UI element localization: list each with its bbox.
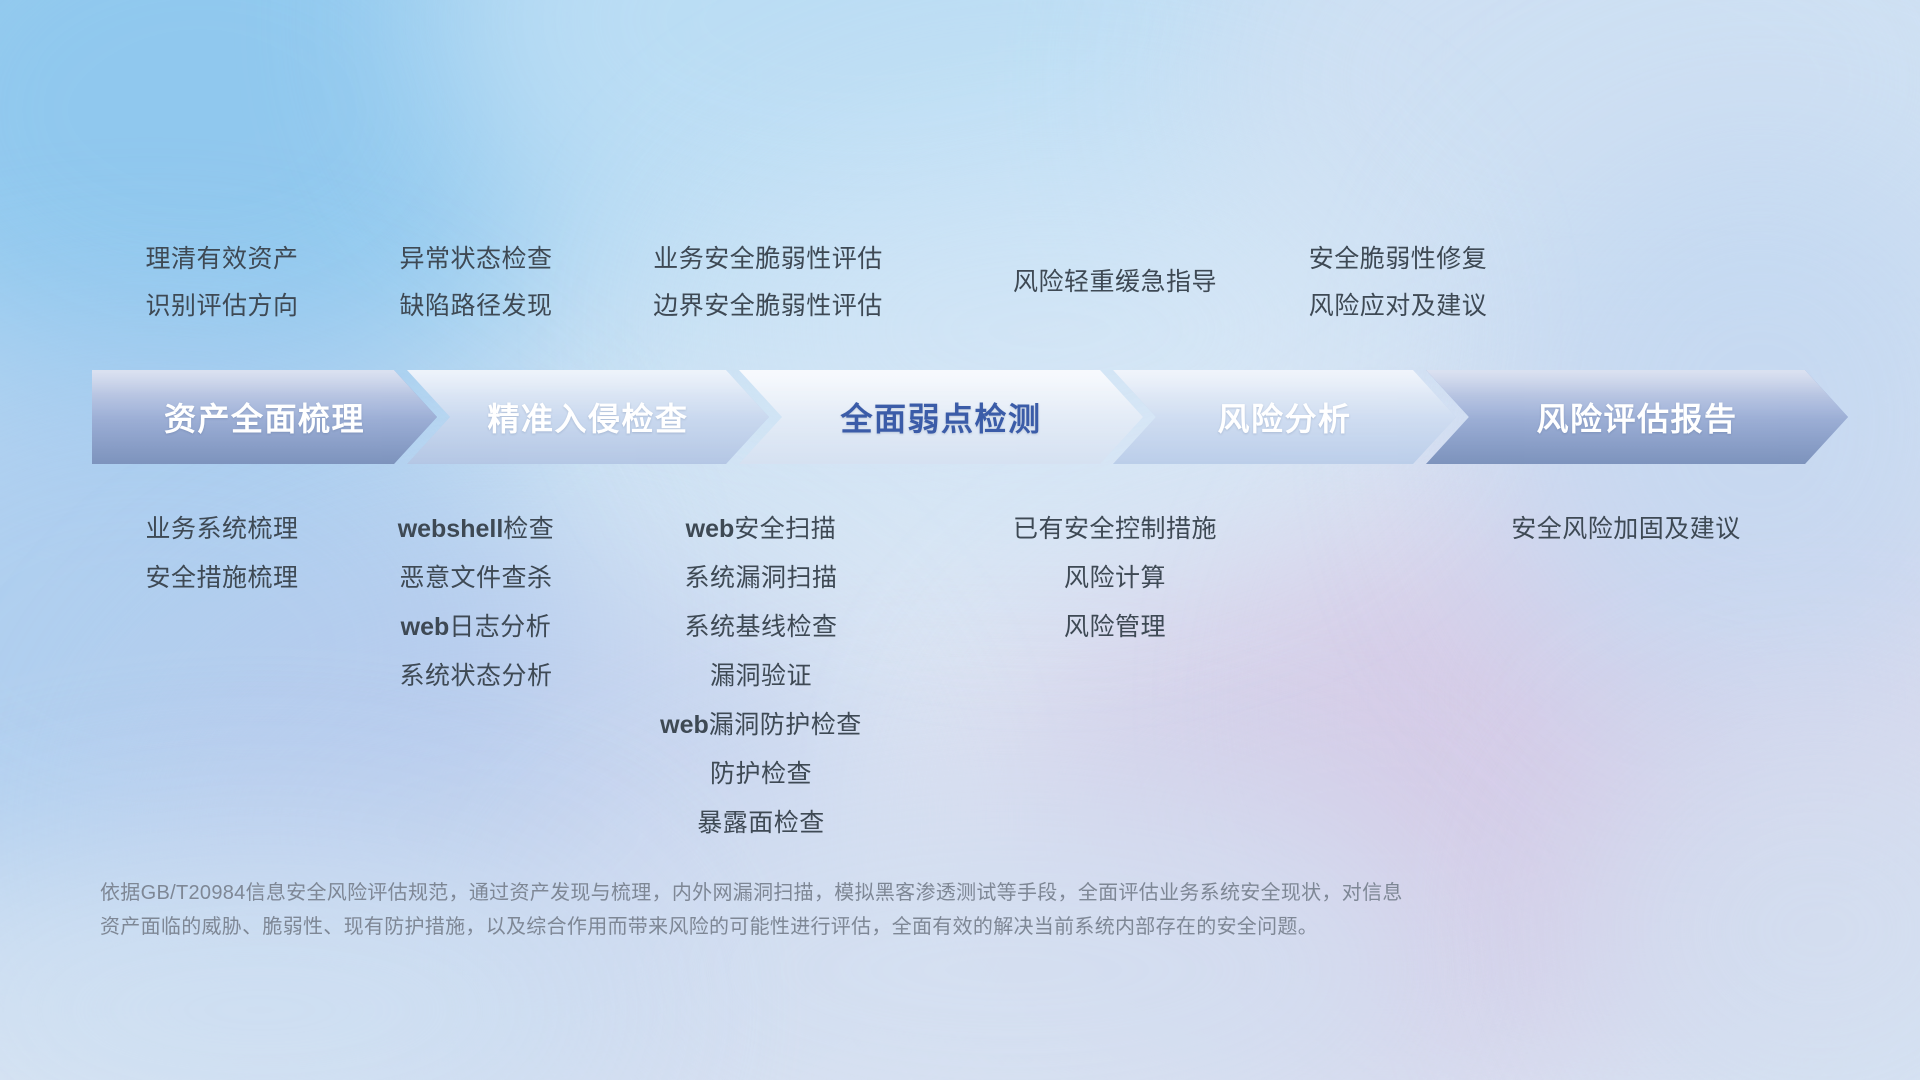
stage-activities-5: 安全风险加固及建议 [1406,505,1846,554]
output-text: 风险轻重缓急指导 [955,259,1275,306]
stage-activities-2: webshell检查 恶意文件查杀 web日志分析 系统状态分析 [316,505,636,701]
chevron-stage-3[interactable]: 全面弱点检测 [739,370,1143,464]
chevron-label: 全面弱点检测 [840,394,1041,440]
chevron-label: 风险分析 [1217,394,1351,440]
activity-text: 系统漏洞扫描 [601,554,921,603]
activity-text: 恶意文件查杀 [316,554,636,603]
activity-text: 防护检查 [601,750,921,799]
stage-activities-row: 业务系统梳理 安全措施梳理 webshell检查 恶意文件查杀 web日志分析 … [0,505,1920,845]
activity-text: 风险计算 [955,554,1275,603]
diagram-root: 理清有效资产 识别评估方向 异常状态检查 缺陷路径发现 业务安全脆弱性评估 边界… [0,0,1920,1080]
chevron-stage-4[interactable]: 风险分析 [1113,370,1456,464]
stage-outputs-5: 安全脆弱性修复 风险应对及建议 [1238,236,1558,330]
stage-activities-3: web安全扫描 系统漏洞扫描 系统基线检查 漏洞验证 web漏洞防护检查 防护检… [601,505,921,848]
output-text: 风险应对及建议 [1238,283,1558,330]
activity-text: webshell检查 [316,505,636,554]
chevron-stage-2[interactable]: 精准入侵检查 [407,370,769,464]
activity-text: 暴露面检查 [601,799,921,848]
activity-text: 系统状态分析 [316,652,636,701]
chevron-label: 资产全面梳理 [164,394,365,440]
activity-text: 漏洞验证 [601,652,921,701]
activity-text: 已有安全控制措施 [955,505,1275,554]
chevron-label: 精准入侵检查 [487,394,688,440]
activity-text: 安全风险加固及建议 [1406,505,1846,554]
stage-outputs-3: 业务安全脆弱性评估 边界安全脆弱性评估 [608,236,928,330]
activity-text: 风险管理 [955,603,1275,652]
output-text: 异常状态检查 [316,236,636,283]
activity-text: web日志分析 [316,603,636,652]
activity-text: web漏洞防护检查 [601,701,921,750]
process-chevron-banner: 资产全面梳理 精准入侵检查 全面弱点检测 风险分析 风险评估报告 [92,370,1848,464]
chevron-stage-1[interactable]: 资产全面梳理 [92,370,437,464]
footer-line-2: 资产面临的威胁、脆弱性、现有防护措施，以及综合作用而带来风险的可能性进行评估，全… [100,910,1660,944]
output-text: 边界安全脆弱性评估 [608,283,928,330]
activity-text: 系统基线检查 [601,603,921,652]
chevron-stage-5[interactable]: 风险评估报告 [1426,370,1848,464]
footer-line-1: 依据GB/T20984信息安全风险评估规范，通过资产发现与梳理，内外网漏洞扫描，… [100,876,1660,910]
stage-outputs-4: 风险轻重缓急指导 [955,236,1275,306]
output-text: 业务安全脆弱性评估 [608,236,928,283]
output-text: 缺陷路径发现 [316,283,636,330]
stage-outputs-row: 理清有效资产 识别评估方向 异常状态检查 缺陷路径发现 业务安全脆弱性评估 边界… [0,236,1920,346]
output-text: 安全脆弱性修复 [1238,236,1558,283]
footer-note: 依据GB/T20984信息安全风险评估规范，通过资产发现与梳理，内外网漏洞扫描，… [100,876,1660,944]
stage-activities-4: 已有安全控制措施 风险计算 风险管理 [955,505,1275,652]
chevron-label: 风险评估报告 [1536,394,1737,440]
activity-text: web安全扫描 [601,505,921,554]
stage-outputs-2: 异常状态检查 缺陷路径发现 [316,236,636,330]
